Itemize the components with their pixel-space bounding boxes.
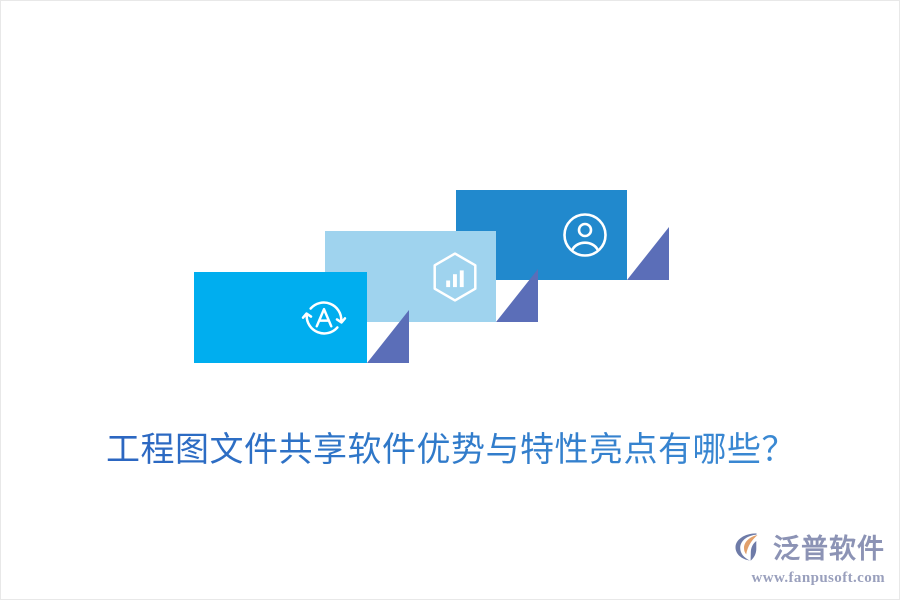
brand-name: 泛普软件 — [773, 536, 885, 563]
brand-logo-row: 泛普软件 — [734, 532, 885, 567]
card-tail-auto — [367, 310, 409, 363]
brand-url: www.fanpusoft.com — [752, 570, 885, 587]
feature-card-cluster — [1, 1, 900, 600]
card-body-auto — [194, 272, 367, 363]
fanpu-logo-mark-icon — [734, 532, 768, 567]
card-tail-user — [627, 227, 669, 280]
page-title: 工程图文件共享软件优势与特性亮点有哪些？ — [1, 429, 900, 473]
page-root: 工程图文件共享软件优势与特性亮点有哪些？ 泛普软件 www.fanpusoft.… — [0, 0, 900, 600]
card-tail-chart — [496, 269, 538, 322]
feature-card-auto[interactable] — [194, 272, 367, 363]
brand-logo: 泛普软件 www.fanpusoft.com — [734, 532, 885, 587]
